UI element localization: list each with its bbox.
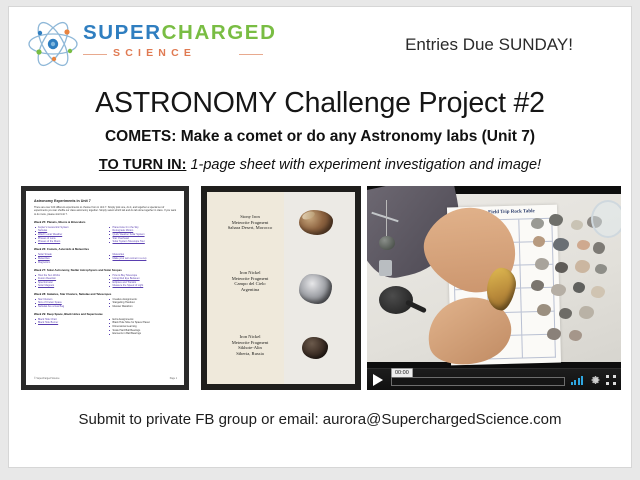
logo-word-line: SUPERCHARGED	[83, 23, 263, 43]
document-section-heading: Week 25: Planets, Moons & Binoculars	[34, 220, 177, 224]
submission-instructions: Submit to private FB group or email: aur…	[9, 411, 631, 428]
document-item: Messier Marathon	[109, 305, 178, 309]
gear-icon[interactable]	[591, 375, 601, 385]
document-section-heading: Week 29: Deep Space, Black Holes and Sup…	[34, 312, 177, 316]
meteorite-display-panel[interactable]: Stony Iron Meteorite Fragment Sahara Des…	[201, 186, 361, 390]
play-icon[interactable]	[373, 374, 383, 386]
document-column-left: Black Hole Chart Black Hole Burner	[34, 318, 103, 336]
document-section-heading: Week 26: Comets, Asteroids & Meteorites	[34, 247, 177, 251]
document-item: Elements in Ball Bearings	[109, 332, 178, 336]
page-subtitle: COMETS: Make a comet or do any Astronomy…	[9, 128, 631, 146]
due-notice: Entries Due SUNDAY!	[369, 35, 609, 55]
document-section-heading: Week 27: Solar Astronomy, Stellar Astrop…	[34, 268, 177, 272]
turn-in-line: TO TURN IN: 1-page sheet with experiment…	[9, 157, 631, 173]
document-panel[interactable]: Astronomy Experiments in Unit 7 There ar…	[21, 186, 189, 390]
specimen-square	[379, 260, 392, 276]
document-column-left: Solar Streak Meteorites Magnetism	[34, 253, 103, 264]
volume-icon[interactable]	[571, 375, 585, 385]
document-link[interactable]: Nebulas Are a Gas Bag	[34, 305, 103, 309]
document-section-columns: Black Hole Chart Black Hole Burner Extra…	[34, 318, 177, 336]
document-footer: © Supercharged Science Page 1	[34, 378, 177, 380]
meteorite-display-case: Stony Iron Meteorite Fragment Sahara Des…	[207, 192, 355, 384]
specimen-label: Stony Iron Meteorite Fragment Sahara Des…	[211, 214, 289, 231]
document-page: Astronomy Experiments in Unit 7 There ar…	[26, 191, 184, 385]
specimen-label-line: Siberia, Russia	[211, 351, 289, 357]
document-column-left: Star Clusters Size of Known Space Nebula…	[34, 298, 103, 309]
turn-in-detail: 1-page sheet with experiment investigati…	[190, 157, 541, 173]
document-link[interactable]: Phases of the Moon	[34, 240, 103, 244]
video-stage[interactable]: Geology Field Trip Rock Table	[367, 186, 621, 369]
specimen-label: Iron Nickel Meteorite Fragment Sikhote-A…	[211, 334, 289, 356]
document-column-right: Extra Assignments: Black Hole Slice for …	[109, 318, 178, 336]
document-link[interactable]: Magnetism	[34, 261, 103, 265]
document-section-columns: Kepler's Geocentric System Nebulas Watch…	[34, 226, 177, 244]
specimen-label: Iron Nickel Meteorite Fragment Campo del…	[211, 270, 289, 292]
video-frame: Geology Field Trip Rock Table	[367, 194, 621, 362]
document-column-left: How the Sun Works Fusion Reaction Spectr…	[34, 274, 103, 288]
document-column-left: Kepler's Geocentric System Nebulas Watch…	[34, 226, 103, 244]
document-link[interactable]: Make your own comet in a cup	[109, 257, 178, 261]
video-control-bar[interactable]: 00:00	[367, 368, 621, 390]
supercharged-science-logo: SUPERCHARGED SCIENCE	[27, 15, 259, 73]
document-column-right: Planet Like It in the Sky Retrograde Mot…	[109, 226, 178, 244]
logo-subtitle: SCIENCE	[113, 47, 196, 59]
logo-subtitle-row: SCIENCE	[83, 47, 263, 61]
specimen-label-line: Argentina	[211, 287, 289, 293]
turn-in-label: TO TURN IN:	[99, 157, 187, 173]
document-footer-left: © Supercharged Science	[34, 378, 60, 380]
video-player-panel[interactable]: Geology Field Trip Rock Table	[367, 186, 621, 390]
document-column-right: Creative Assignments: Stargazing Handout…	[109, 298, 178, 309]
iron-nickel-campo-rock	[299, 274, 332, 304]
video-progress-bar[interactable]	[391, 377, 565, 386]
magnet	[379, 236, 395, 250]
document-link[interactable]: Solar System Telescope Tour	[109, 240, 178, 244]
atom-icon	[27, 21, 79, 67]
specimen-label-line: Sahara Desert, Morocco	[211, 225, 289, 231]
logo-word-charged: CHARGED	[162, 21, 277, 44]
document-intro: There are over 100 different experiments…	[34, 206, 177, 216]
logo-word-super: SUPER	[83, 21, 162, 44]
document-link[interactable]: Measure the Speed of Light	[109, 284, 178, 288]
document-section-columns: Star Clusters Size of Known Space Nebula…	[34, 298, 177, 309]
slide-header: SUPERCHARGED SCIENCE Entries Due SUNDAY!	[9, 7, 631, 81]
document-section-columns: Solar Streak Meteorites Magnetism Meteor…	[34, 253, 177, 264]
logo-wordmark: SUPERCHARGED SCIENCE	[83, 23, 263, 61]
document-title: Astronomy Experiments in Unit 7	[34, 199, 177, 203]
presentation-slide: SUPERCHARGED SCIENCE Entries Due SUNDAY!…	[8, 6, 632, 468]
document-column-right: How to Buy Telescope Using Red Eye Betwe…	[109, 274, 178, 288]
glass-jar	[591, 200, 621, 238]
magnet-string	[386, 200, 387, 236]
fullscreen-icon[interactable]	[606, 375, 616, 385]
document-column-right: Meteorites Make your own comet in a cup	[109, 253, 178, 264]
page-title: ASTRONOMY Challenge Project #2	[9, 87, 631, 120]
iron-nickel-sikhote-rock	[302, 337, 328, 359]
document-link[interactable]: Solar Magnets	[34, 284, 103, 288]
image-panels: Astronomy Experiments in Unit 7 There ar…	[9, 186, 631, 391]
logo-rule-left	[83, 54, 107, 55]
document-footer-right: Page 1	[170, 378, 177, 380]
document-section-columns: How the Sun Works Fusion Reaction Spectr…	[34, 274, 177, 288]
document-section-heading: Week 28: Galaxies, Star Clusters, Nebula…	[34, 292, 177, 296]
logo-rule-right	[239, 54, 263, 55]
stony-iron-rock	[299, 210, 333, 235]
document-link[interactable]: Black Hole Burner	[34, 321, 103, 325]
